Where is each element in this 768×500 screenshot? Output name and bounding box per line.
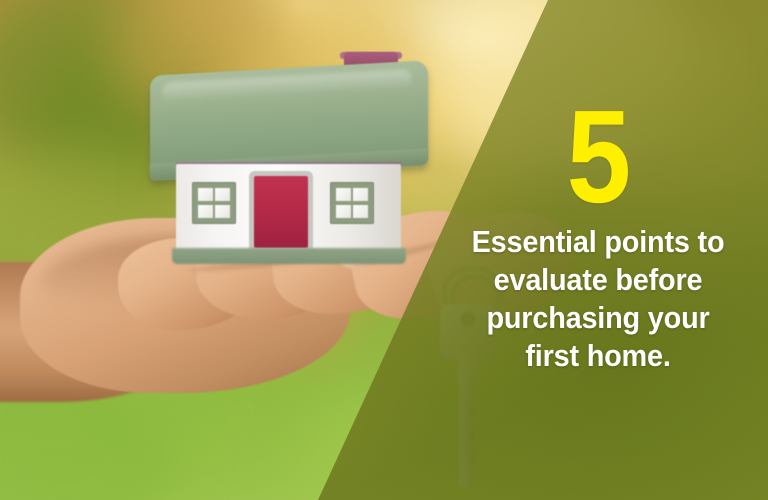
window-pane	[215, 205, 230, 218]
window-pane	[353, 188, 368, 201]
window-pane	[198, 188, 213, 201]
window-left	[192, 182, 236, 224]
headline-line-1: Essential points to	[462, 223, 734, 261]
big-number: 5	[470, 96, 727, 217]
headline-text: Essential points to evaluate before purc…	[462, 223, 734, 374]
window-pane	[215, 188, 230, 201]
headline-line-4: first home.	[462, 337, 734, 375]
window-pane	[198, 205, 213, 218]
house-base	[172, 248, 406, 264]
headline-block: 5 Essential points to evaluate before pu…	[452, 96, 744, 375]
window-pane	[336, 205, 351, 218]
promo-banner: 5 Essential points to evaluate before pu…	[0, 0, 768, 500]
headline-line-2: evaluate before	[462, 261, 734, 299]
window-pane	[353, 205, 368, 218]
front-door	[254, 176, 308, 248]
headline-line-3: purchasing your	[462, 299, 734, 337]
window-right	[330, 182, 374, 224]
miniature-house	[150, 52, 440, 252]
window-pane	[336, 188, 351, 201]
